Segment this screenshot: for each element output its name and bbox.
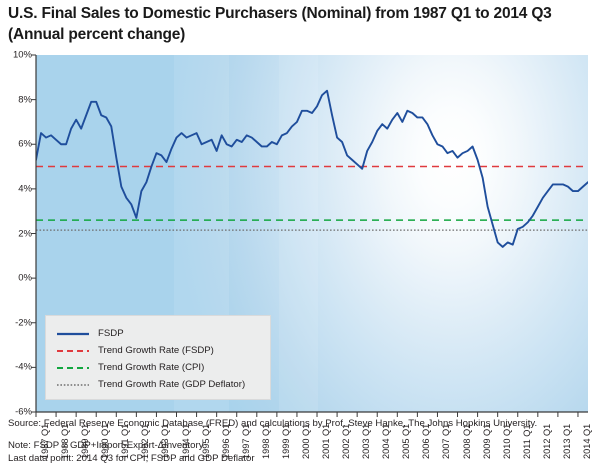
note-block: Note: FSDP = GDP+Import-Export-ΔInventor… (8, 440, 596, 465)
chart-footer: Source: Federal Reserve Economic Databas… (8, 418, 596, 465)
page-title: U.S. Final Sales to Domestic Purchasers … (8, 4, 593, 45)
legend-swatch-dashed-icon (56, 363, 90, 373)
axis-layer (0, 50, 600, 470)
legend-label: Trend Growth Rate (FSDP) (98, 345, 214, 356)
legend-item: Trend Growth Rate (CPI) (56, 359, 270, 376)
note-line-2: Last data point: 2014 Q3 for CPI, FSDP a… (8, 453, 596, 466)
legend-item: Trend Growth Rate (GDP Deflator) (56, 376, 270, 393)
legend-swatch-dashed-icon (56, 346, 90, 356)
source-text: Source: Federal Reserve Economic Databas… (8, 418, 596, 431)
legend-label: FSDP (98, 328, 124, 339)
legend-list: FSDPTrend Growth Rate (FSDP)Trend Growth… (46, 316, 270, 393)
legend-label: Trend Growth Rate (CPI) (98, 362, 204, 373)
legend-swatch-dotted-icon (56, 380, 90, 390)
y-axis-ticks (31, 55, 36, 412)
legend-swatch-solid-icon (56, 329, 90, 339)
legend-item: FSDP (56, 325, 270, 342)
chart-legend: FSDPTrend Growth Rate (FSDP)Trend Growth… (45, 315, 271, 400)
chart-container: -6%-4%-2%0%2%4%6%8%10% 1987 Q11988 Q1198… (0, 50, 600, 365)
legend-label: Trend Growth Rate (GDP Deflator) (98, 379, 245, 390)
note-line-1: Note: FSDP = GDP+Import-Export-ΔInventor… (8, 440, 596, 453)
legend-item: Trend Growth Rate (FSDP) (56, 342, 270, 359)
